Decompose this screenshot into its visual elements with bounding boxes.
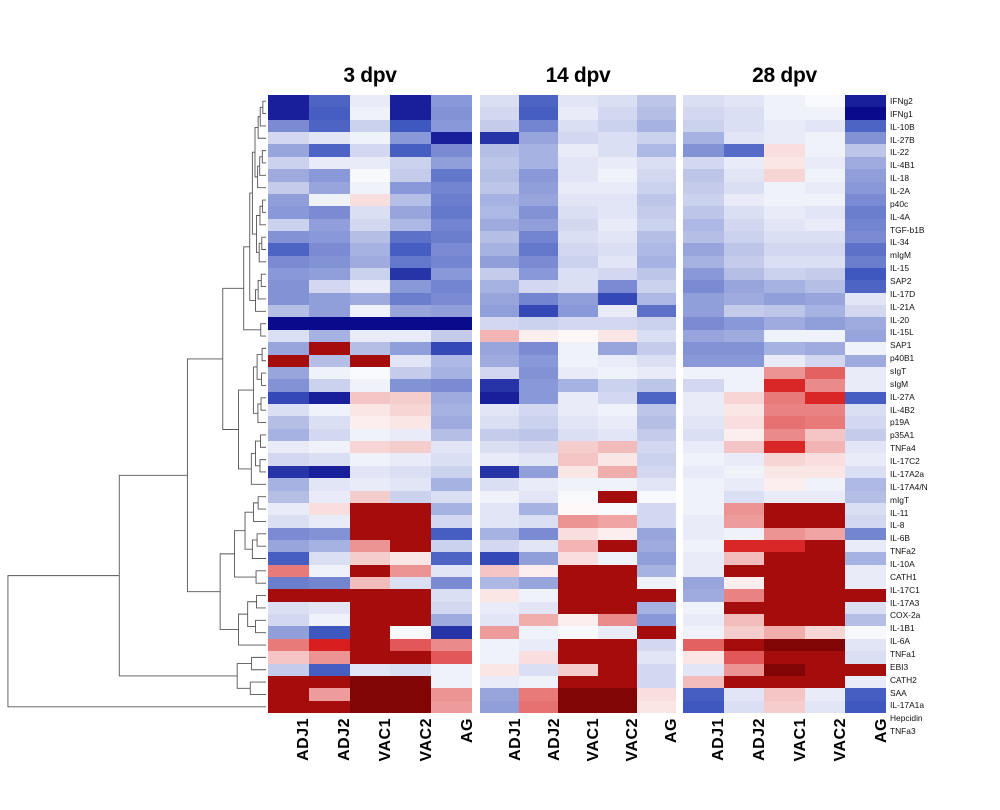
heatmap-cell bbox=[390, 219, 431, 231]
heatmap-cell bbox=[480, 379, 519, 391]
heatmap-row bbox=[683, 614, 886, 626]
heatmap-cell bbox=[598, 120, 637, 132]
heatmap-cell bbox=[683, 503, 724, 515]
row-label: sIgM bbox=[890, 378, 998, 391]
heatmap-cell bbox=[309, 144, 350, 156]
heatmap-cell bbox=[683, 478, 724, 490]
heatmap-cell bbox=[309, 330, 350, 342]
heatmap-cell bbox=[350, 379, 391, 391]
heatmap-cell bbox=[724, 515, 765, 527]
heatmap-cell bbox=[805, 144, 846, 156]
heatmap-cell bbox=[390, 416, 431, 428]
heatmap-cell bbox=[350, 169, 391, 181]
heatmap-cell bbox=[519, 330, 558, 342]
heatmap-row bbox=[683, 182, 886, 194]
heatmap-cell bbox=[683, 107, 724, 119]
heatmap-row bbox=[480, 107, 676, 119]
heatmap-cell bbox=[480, 639, 519, 651]
heatmap-cell bbox=[598, 256, 637, 268]
heatmap-cell bbox=[390, 243, 431, 255]
heatmap-cell bbox=[350, 503, 391, 515]
heatmap-row bbox=[480, 639, 676, 651]
heatmap-row bbox=[480, 441, 676, 453]
heatmap-row bbox=[683, 280, 886, 292]
heatmap-cell bbox=[480, 342, 519, 354]
heatmap-cell bbox=[309, 243, 350, 255]
heatmap-cell bbox=[431, 107, 472, 119]
row-dendrogram bbox=[0, 95, 268, 713]
heatmap-cell bbox=[558, 429, 597, 441]
heatmap-cell bbox=[845, 441, 886, 453]
heatmap-cell bbox=[519, 614, 558, 626]
heatmap-cell bbox=[683, 293, 724, 305]
heatmap-row bbox=[480, 589, 676, 601]
heatmap-cell bbox=[724, 701, 765, 713]
heatmap-cell bbox=[805, 602, 846, 614]
heatmap-cell bbox=[309, 614, 350, 626]
heatmap-row bbox=[683, 701, 886, 713]
heatmap-cell bbox=[637, 552, 676, 564]
heatmap-cell bbox=[683, 243, 724, 255]
heatmap-cell bbox=[480, 231, 519, 243]
heatmap-cell bbox=[350, 392, 391, 404]
heatmap-cell bbox=[805, 466, 846, 478]
heatmap-cell bbox=[764, 552, 805, 564]
heatmap-row bbox=[683, 256, 886, 268]
heatmap-cell bbox=[724, 416, 765, 428]
heatmap-cell bbox=[637, 268, 676, 280]
heatmap-cell bbox=[480, 441, 519, 453]
heatmap-cell bbox=[350, 182, 391, 194]
heatmap-cell bbox=[683, 317, 724, 329]
heatmap-cell bbox=[480, 552, 519, 564]
heatmap-cell bbox=[431, 441, 472, 453]
heatmap-row bbox=[268, 256, 472, 268]
heatmap-cell bbox=[431, 577, 472, 589]
heatmap-row bbox=[683, 688, 886, 700]
heatmap-cell bbox=[309, 688, 350, 700]
heatmap-cell bbox=[637, 280, 676, 292]
heatmap-cell bbox=[637, 589, 676, 601]
heatmap-cell bbox=[268, 441, 309, 453]
heatmap-cell bbox=[268, 144, 309, 156]
column-label-adj2: ADJ2 bbox=[546, 718, 564, 761]
heatmap-cell bbox=[480, 540, 519, 552]
row-label: IL-21A bbox=[890, 301, 998, 314]
heatmap-row bbox=[683, 466, 886, 478]
heatmap-row bbox=[683, 194, 886, 206]
heatmap-cell bbox=[558, 144, 597, 156]
heatmap-cell bbox=[268, 132, 309, 144]
heatmap-cell bbox=[724, 429, 765, 441]
heatmap-row bbox=[480, 552, 676, 564]
heatmap-cell bbox=[724, 182, 765, 194]
heatmap-cell bbox=[519, 651, 558, 663]
heatmap-cell bbox=[637, 614, 676, 626]
heatmap-block-28dpv bbox=[683, 95, 886, 713]
heatmap-cell bbox=[480, 466, 519, 478]
heatmap-row bbox=[480, 688, 676, 700]
row-label: SAP1 bbox=[890, 339, 998, 352]
heatmap-cell bbox=[519, 157, 558, 169]
heatmap-cell bbox=[764, 466, 805, 478]
heatmap-cell bbox=[558, 342, 597, 354]
heatmap-cell bbox=[431, 317, 472, 329]
row-label: p35A1 bbox=[890, 429, 998, 442]
heatmap-cell bbox=[480, 478, 519, 490]
heatmap-row bbox=[683, 515, 886, 527]
heatmap-cell bbox=[683, 367, 724, 379]
heatmap-row bbox=[480, 602, 676, 614]
heatmap-cell bbox=[350, 256, 391, 268]
heatmap-cell bbox=[431, 231, 472, 243]
heatmap-row bbox=[268, 441, 472, 453]
heatmap-cell bbox=[390, 120, 431, 132]
heatmap-cell bbox=[390, 194, 431, 206]
heatmap-row bbox=[268, 491, 472, 503]
heatmap-figure: 3 dpv 14 dpv 28 dpv IFNg2IFNg1IL-10BIL-2… bbox=[0, 0, 1000, 810]
heatmap-row bbox=[268, 676, 472, 688]
heatmap-row bbox=[683, 379, 886, 391]
heatmap-cell bbox=[683, 626, 724, 638]
heatmap-cell bbox=[350, 515, 391, 527]
heatmap-cell bbox=[805, 688, 846, 700]
heatmap-cell bbox=[480, 491, 519, 503]
heatmap-cell bbox=[845, 404, 886, 416]
heatmap-row bbox=[683, 676, 886, 688]
heatmap-cell bbox=[390, 404, 431, 416]
heatmap-row bbox=[480, 231, 676, 243]
heatmap-cell bbox=[598, 552, 637, 564]
heatmap-cell bbox=[805, 355, 846, 367]
heatmap-cell bbox=[480, 355, 519, 367]
heatmap-cell bbox=[683, 404, 724, 416]
heatmap-cell bbox=[431, 219, 472, 231]
heatmap-cell bbox=[683, 169, 724, 181]
row-label: TNFa2 bbox=[890, 545, 998, 558]
heatmap-cell bbox=[558, 379, 597, 391]
heatmap-cell bbox=[390, 256, 431, 268]
heatmap-cell bbox=[431, 243, 472, 255]
heatmap-cell bbox=[519, 305, 558, 317]
heatmap-row bbox=[268, 478, 472, 490]
row-label: IL-18 bbox=[890, 172, 998, 185]
heatmap-cell bbox=[724, 589, 765, 601]
heatmap-cell bbox=[350, 602, 391, 614]
heatmap-row bbox=[683, 107, 886, 119]
heatmap-cell bbox=[309, 169, 350, 181]
heatmap-cell bbox=[805, 95, 846, 107]
heatmap-row bbox=[268, 182, 472, 194]
group-header-14dpv: 14 dpv bbox=[480, 64, 676, 88]
heatmap-cell bbox=[683, 194, 724, 206]
heatmap-row bbox=[480, 330, 676, 342]
heatmap-cell bbox=[683, 268, 724, 280]
heatmap-cell bbox=[480, 676, 519, 688]
heatmap-cell bbox=[558, 404, 597, 416]
heatmap-cell bbox=[558, 651, 597, 663]
heatmap-cell bbox=[764, 268, 805, 280]
heatmap-cell bbox=[268, 256, 309, 268]
heatmap-row bbox=[683, 317, 886, 329]
heatmap-cell bbox=[431, 355, 472, 367]
heatmap-cell bbox=[309, 552, 350, 564]
heatmap-cell bbox=[845, 157, 886, 169]
heatmap-cell bbox=[480, 293, 519, 305]
heatmap-row bbox=[268, 688, 472, 700]
heatmap-cell bbox=[724, 503, 765, 515]
heatmap-cell bbox=[558, 416, 597, 428]
heatmap-cell bbox=[805, 219, 846, 231]
heatmap-cell bbox=[558, 231, 597, 243]
heatmap-cell bbox=[637, 453, 676, 465]
heatmap-cell bbox=[805, 379, 846, 391]
heatmap-cell bbox=[309, 293, 350, 305]
heatmap-cell bbox=[309, 503, 350, 515]
heatmap-cell bbox=[558, 219, 597, 231]
heatmap-row bbox=[268, 602, 472, 614]
heatmap-cell bbox=[519, 528, 558, 540]
heatmap-cell bbox=[431, 565, 472, 577]
heatmap-cell bbox=[637, 317, 676, 329]
heatmap-cell bbox=[845, 317, 886, 329]
heatmap-cell bbox=[519, 355, 558, 367]
heatmap-cell bbox=[268, 651, 309, 663]
heatmap-cell bbox=[805, 280, 846, 292]
heatmap-cell bbox=[598, 367, 637, 379]
heatmap-cell bbox=[764, 589, 805, 601]
heatmap-cell bbox=[598, 614, 637, 626]
heatmap-row bbox=[268, 379, 472, 391]
heatmap-cell bbox=[637, 639, 676, 651]
heatmap-cell bbox=[683, 441, 724, 453]
heatmap-row bbox=[683, 169, 886, 181]
heatmap-cell bbox=[724, 404, 765, 416]
heatmap-cell bbox=[519, 367, 558, 379]
heatmap-cell bbox=[598, 355, 637, 367]
heatmap-cell bbox=[268, 589, 309, 601]
heatmap-cell bbox=[268, 120, 309, 132]
heatmap-cell bbox=[805, 528, 846, 540]
heatmap-cell bbox=[309, 280, 350, 292]
heatmap-cell bbox=[845, 120, 886, 132]
heatmap-cell bbox=[350, 305, 391, 317]
heatmap-cell bbox=[519, 194, 558, 206]
heatmap-cell bbox=[845, 453, 886, 465]
heatmap-cell bbox=[431, 132, 472, 144]
heatmap-cell bbox=[519, 441, 558, 453]
heatmap-cell bbox=[724, 194, 765, 206]
heatmap-row bbox=[683, 416, 886, 428]
heatmap-cell bbox=[683, 491, 724, 503]
heatmap-cell bbox=[805, 639, 846, 651]
heatmap-cell bbox=[764, 107, 805, 119]
heatmap-cell bbox=[637, 577, 676, 589]
heatmap-row bbox=[683, 95, 886, 107]
heatmap-row bbox=[683, 503, 886, 515]
heatmap-cell bbox=[519, 701, 558, 713]
heatmap-cell bbox=[431, 429, 472, 441]
heatmap-cell bbox=[519, 429, 558, 441]
heatmap-cell bbox=[350, 355, 391, 367]
heatmap-cell bbox=[805, 107, 846, 119]
heatmap-cell bbox=[390, 206, 431, 218]
heatmap-cell bbox=[724, 540, 765, 552]
heatmap-cell bbox=[805, 305, 846, 317]
heatmap-cell bbox=[558, 305, 597, 317]
heatmap-cell bbox=[724, 293, 765, 305]
heatmap-row bbox=[683, 540, 886, 552]
heatmap-cell bbox=[637, 466, 676, 478]
heatmap-cell bbox=[558, 182, 597, 194]
heatmap-cell bbox=[845, 206, 886, 218]
heatmap-row bbox=[683, 602, 886, 614]
heatmap-cell bbox=[683, 132, 724, 144]
column-label-vac1: VAC1 bbox=[585, 718, 603, 762]
heatmap-cell bbox=[845, 701, 886, 713]
row-label: IL-27A bbox=[890, 391, 998, 404]
heatmap-cell bbox=[268, 565, 309, 577]
heatmap-cell bbox=[598, 540, 637, 552]
heatmap-cell bbox=[519, 503, 558, 515]
heatmap-cell bbox=[268, 416, 309, 428]
heatmap-cell bbox=[764, 392, 805, 404]
heatmap-cell bbox=[480, 107, 519, 119]
heatmap-row bbox=[683, 144, 886, 156]
heatmap-cell bbox=[350, 676, 391, 688]
heatmap-cell bbox=[309, 379, 350, 391]
heatmap-cell bbox=[598, 330, 637, 342]
heatmap-row bbox=[268, 355, 472, 367]
heatmap-cell bbox=[724, 626, 765, 638]
heatmap-cell bbox=[431, 453, 472, 465]
heatmap-cell bbox=[519, 219, 558, 231]
heatmap-cell bbox=[637, 626, 676, 638]
heatmap-cell bbox=[683, 614, 724, 626]
heatmap-cell bbox=[558, 194, 597, 206]
heatmap-cell bbox=[309, 651, 350, 663]
heatmap-cell bbox=[764, 701, 805, 713]
heatmap-block-14dpv bbox=[480, 95, 676, 713]
heatmap-cell bbox=[637, 342, 676, 354]
heatmap-cell bbox=[598, 317, 637, 329]
heatmap-cell bbox=[683, 219, 724, 231]
heatmap-cell bbox=[558, 602, 597, 614]
heatmap-cell bbox=[683, 676, 724, 688]
heatmap-cell bbox=[350, 528, 391, 540]
heatmap-row bbox=[683, 157, 886, 169]
heatmap-cell bbox=[637, 293, 676, 305]
heatmap-cell bbox=[805, 404, 846, 416]
heatmap-row bbox=[268, 342, 472, 354]
heatmap-cell bbox=[431, 540, 472, 552]
column-label-adj1: ADJ1 bbox=[507, 718, 525, 761]
heatmap-cell bbox=[598, 219, 637, 231]
heatmap-cell bbox=[598, 132, 637, 144]
heatmap-cell bbox=[431, 552, 472, 564]
heatmap-cell bbox=[724, 157, 765, 169]
heatmap-cell bbox=[519, 552, 558, 564]
heatmap-cell bbox=[637, 355, 676, 367]
heatmap-row bbox=[480, 293, 676, 305]
heatmap-cell bbox=[805, 293, 846, 305]
heatmap-cell bbox=[764, 231, 805, 243]
heatmap-cell bbox=[390, 701, 431, 713]
heatmap-cell bbox=[805, 453, 846, 465]
heatmap-cell bbox=[805, 317, 846, 329]
heatmap-cell bbox=[431, 379, 472, 391]
heatmap-cell bbox=[805, 626, 846, 638]
heatmap-cell bbox=[350, 330, 391, 342]
heatmap-cell bbox=[558, 367, 597, 379]
heatmap-cell bbox=[480, 144, 519, 156]
heatmap-cell bbox=[268, 602, 309, 614]
heatmap-cell bbox=[764, 491, 805, 503]
heatmap-cell bbox=[431, 404, 472, 416]
heatmap-cell bbox=[805, 169, 846, 181]
heatmap-cell bbox=[350, 107, 391, 119]
heatmap-cell bbox=[683, 256, 724, 268]
row-label: IL-17C1 bbox=[890, 584, 998, 597]
heatmap-cell bbox=[598, 429, 637, 441]
heatmap-cell bbox=[558, 243, 597, 255]
heatmap-cell bbox=[519, 688, 558, 700]
heatmap-cell bbox=[598, 280, 637, 292]
heatmap-cell bbox=[431, 268, 472, 280]
heatmap-row bbox=[683, 528, 886, 540]
heatmap-cell bbox=[480, 614, 519, 626]
heatmap-cell bbox=[309, 515, 350, 527]
heatmap-row bbox=[480, 478, 676, 490]
heatmap-cell bbox=[637, 429, 676, 441]
heatmap-row bbox=[683, 392, 886, 404]
heatmap-cell bbox=[480, 626, 519, 638]
row-label: p40c bbox=[890, 198, 998, 211]
heatmap-row bbox=[683, 441, 886, 453]
heatmap-row bbox=[683, 404, 886, 416]
heatmap-row bbox=[683, 293, 886, 305]
heatmap-cell bbox=[637, 132, 676, 144]
heatmap-cell bbox=[764, 144, 805, 156]
heatmap-cell bbox=[519, 169, 558, 181]
heatmap-cell bbox=[598, 416, 637, 428]
heatmap-cell bbox=[558, 664, 597, 676]
heatmap-cell bbox=[724, 528, 765, 540]
heatmap-cell bbox=[350, 688, 391, 700]
heatmap-cell bbox=[845, 330, 886, 342]
heatmap-cell bbox=[268, 515, 309, 527]
heatmap-cell bbox=[764, 367, 805, 379]
heatmap-cell bbox=[480, 589, 519, 601]
heatmap-cell bbox=[350, 132, 391, 144]
heatmap-cell bbox=[724, 317, 765, 329]
heatmap-cell bbox=[683, 416, 724, 428]
heatmap-row bbox=[268, 466, 472, 478]
heatmap-row bbox=[683, 664, 886, 676]
heatmap-row bbox=[268, 206, 472, 218]
heatmap-cell bbox=[683, 157, 724, 169]
heatmap-cell bbox=[845, 256, 886, 268]
heatmap-cell bbox=[309, 639, 350, 651]
heatmap-cell bbox=[519, 478, 558, 490]
column-label-vac2: VAC2 bbox=[418, 718, 436, 762]
heatmap-row bbox=[480, 626, 676, 638]
heatmap-cell bbox=[390, 540, 431, 552]
heatmap-cell bbox=[764, 676, 805, 688]
row-label: IL-4A bbox=[890, 211, 998, 224]
heatmap-cell bbox=[480, 528, 519, 540]
column-label-vac2: VAC2 bbox=[832, 718, 850, 762]
